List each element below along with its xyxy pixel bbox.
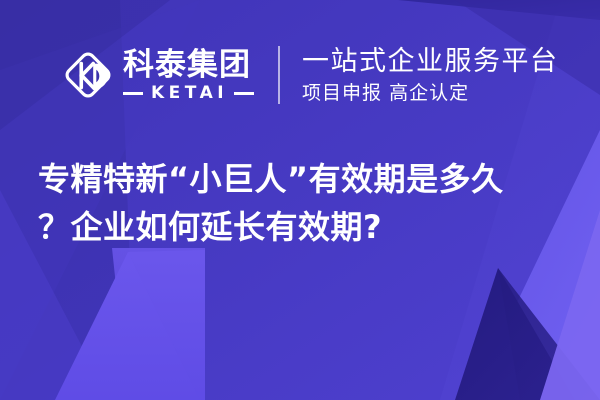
company-name-en-row: KETAI xyxy=(123,84,254,102)
ketai-diamond-kd-logo-icon xyxy=(62,48,114,102)
banner-title-line-2: ？企业如何延长有效期? xyxy=(38,203,578,251)
logo-wordmark: 科泰集团 KETAI xyxy=(123,48,254,102)
promo-banner: 科泰集团 KETAI 一站式企业服务平台 项目申报 高企认定 专精特新“小巨人”… xyxy=(0,0,600,400)
company-name-cn: 科泰集团 xyxy=(123,48,254,82)
brand-logo[interactable]: 科泰集团 KETAI xyxy=(62,48,254,102)
logo-dash-right-icon xyxy=(234,92,254,95)
tagline-primary: 一站式企业服务平台 xyxy=(302,45,559,78)
tagline-secondary: 项目申报 高企认定 xyxy=(302,80,559,106)
banner-header: 科泰集团 KETAI 一站式企业服务平台 项目申报 高企认定 xyxy=(62,40,559,110)
banner-title: 专精特新“小巨人”有效期是多久 ？企业如何延长有效期? xyxy=(38,155,578,251)
header-divider xyxy=(278,46,280,104)
company-name-en: KETAI xyxy=(143,84,234,102)
header-tagline: 一站式企业服务平台 项目申报 高企认定 xyxy=(302,45,559,106)
banner-content: 科泰集团 KETAI 一站式企业服务平台 项目申报 高企认定 专精特新“小巨人”… xyxy=(0,0,600,400)
banner-title-line-1: 专精特新“小巨人”有效期是多久 xyxy=(38,155,578,203)
logo-dash-left-icon xyxy=(123,92,143,95)
